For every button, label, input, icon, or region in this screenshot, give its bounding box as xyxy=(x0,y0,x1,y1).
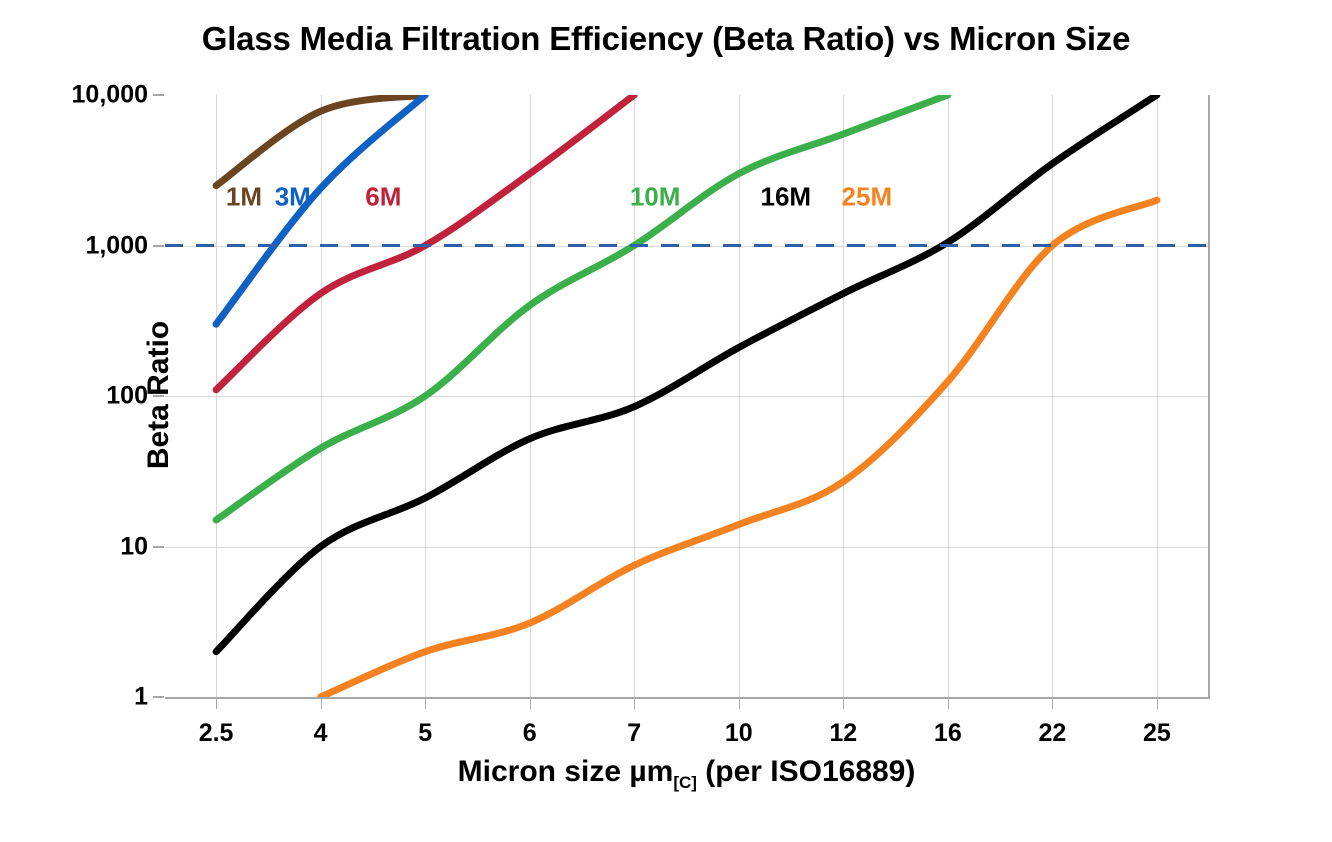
series-line-1m xyxy=(216,95,425,186)
y-axis-tick-label: 1 xyxy=(134,683,148,712)
x-axis-title: Micron size µm[C] (per ISO16889) xyxy=(165,755,1208,789)
y-axis-tick xyxy=(153,245,164,247)
series-plot xyxy=(165,95,1208,697)
series-line-16m xyxy=(216,95,1157,652)
x-axis-tick-label: 22 xyxy=(1038,719,1066,748)
y-axis-tick-label: 10 xyxy=(120,532,148,561)
series-label-3m: 3M xyxy=(275,182,311,213)
page-title: Glass Media Filtration Efficiency (Beta … xyxy=(0,20,1332,58)
y-axis-tick xyxy=(153,546,164,548)
series-label-6m: 6M xyxy=(365,182,401,213)
plot-area: 1101001,00010,000 2.545671012162225 1M3M… xyxy=(165,95,1208,697)
y-axis-title: Beta Ratio xyxy=(142,321,176,469)
x-axis-tick-label: 10 xyxy=(725,719,753,748)
x-axis-tick-label: 25 xyxy=(1143,719,1171,748)
x-axis-tick-label: 16 xyxy=(934,719,962,748)
x-axis-tick-label: 12 xyxy=(829,719,857,748)
x-axis-tick xyxy=(530,697,531,709)
x-axis-tick xyxy=(321,697,322,709)
x-axis-tick xyxy=(425,697,426,709)
x-axis-tick xyxy=(1052,697,1053,709)
x-axis-tick xyxy=(948,697,949,709)
series-label-1m: 1M xyxy=(226,182,262,213)
x-axis-title-main: Micron size µm xyxy=(458,755,674,788)
series-label-25m: 25M xyxy=(842,182,893,213)
axis-spine-right xyxy=(1208,95,1210,699)
y-axis-tick xyxy=(153,94,164,96)
x-axis-tick-label: 7 xyxy=(627,719,641,748)
x-axis-tick xyxy=(843,697,844,709)
x-axis-tick xyxy=(216,697,217,709)
x-axis-tick-label: 5 xyxy=(418,719,432,748)
x-axis-tick-label: 2.5 xyxy=(199,719,234,748)
chart-page: Glass Media Filtration Efficiency (Beta … xyxy=(0,0,1332,842)
x-axis-tick xyxy=(634,697,635,709)
series-label-10m: 10M xyxy=(630,182,681,213)
x-axis-tick xyxy=(1157,697,1158,709)
y-axis-tick-label: 1,000 xyxy=(85,231,148,260)
series-line-25m xyxy=(321,200,1157,697)
x-axis-title-subscript: [C] xyxy=(673,773,697,792)
y-axis-tick-label: 10,000 xyxy=(72,81,148,110)
series-line-10m xyxy=(216,95,948,520)
x-axis-tick xyxy=(739,697,740,709)
series-label-16m: 16M xyxy=(761,182,812,213)
x-axis-tick-label: 4 xyxy=(314,719,328,748)
y-axis-tick xyxy=(153,696,164,698)
x-axis-title-tail: (per ISO16889) xyxy=(697,755,915,788)
x-axis-tick-label: 6 xyxy=(523,719,537,748)
